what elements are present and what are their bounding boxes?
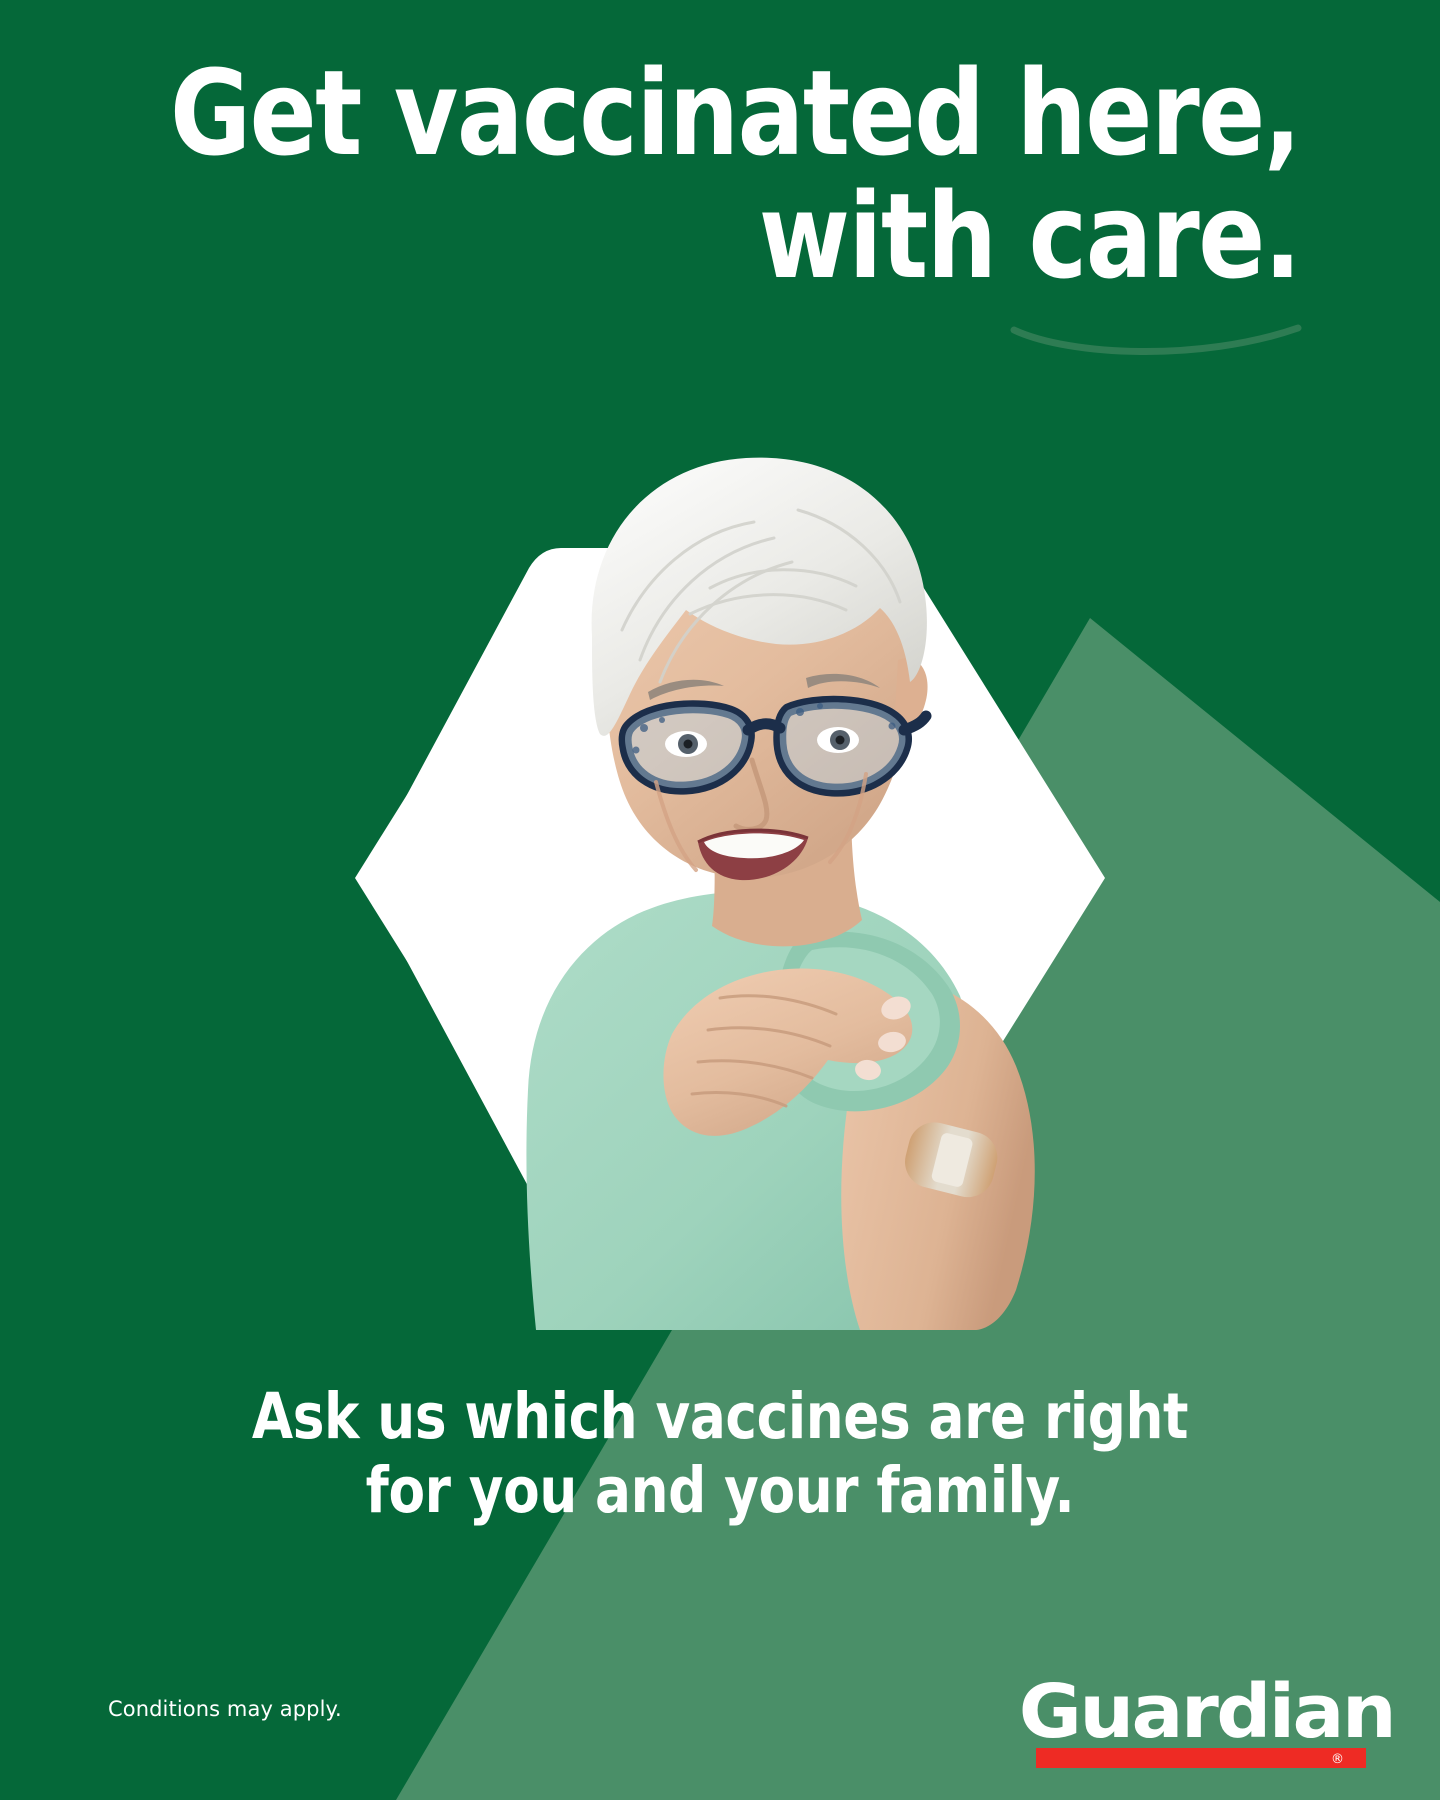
hexagon-frame-icon bbox=[355, 548, 1105, 1208]
logo-red-bar bbox=[1036, 1748, 1366, 1768]
swoosh-underline-icon bbox=[1010, 322, 1310, 362]
headline-line-1: Get vaccinated here, bbox=[147, 52, 1300, 175]
logo-wordmark: Guardian bbox=[1019, 1678, 1362, 1746]
registered-trademark-icon: ® bbox=[1331, 1753, 1344, 1766]
subtitle-line-2: for you and your family. bbox=[156, 1454, 1284, 1528]
vaccination-poster: Get vaccinated here, with care. bbox=[0, 0, 1440, 1800]
subtitle-line-1: Ask us which vaccines are right bbox=[156, 1380, 1284, 1454]
disclaimer-text: Conditions may apply. bbox=[108, 1697, 342, 1721]
guardian-logo: Guardian ® bbox=[1032, 1678, 1362, 1782]
headline-line-2: with care. bbox=[147, 175, 1300, 298]
page-headline: Get vaccinated here, with care. bbox=[147, 52, 1300, 297]
page-subtitle: Ask us which vaccines are right for you … bbox=[156, 1380, 1284, 1529]
